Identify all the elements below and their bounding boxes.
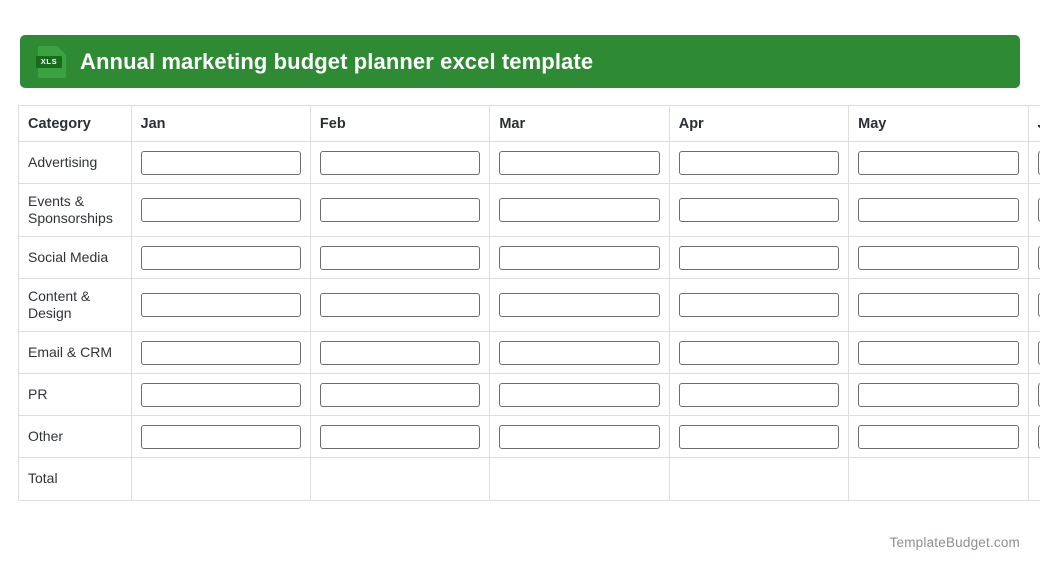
cell-events-may[interactable] xyxy=(849,184,1028,237)
cell-total-mar xyxy=(490,458,669,501)
input-pr-feb[interactable] xyxy=(320,383,480,407)
column-header-jan: Jan xyxy=(131,106,310,142)
cell-other-feb[interactable] xyxy=(310,416,489,458)
cell-email-mar[interactable] xyxy=(490,332,669,374)
cell-content-mar[interactable] xyxy=(490,279,669,332)
cell-advertising-apr[interactable] xyxy=(669,142,848,184)
cell-events-feb[interactable] xyxy=(310,184,489,237)
table-row: Advertising xyxy=(19,142,1040,184)
cell-pr-feb[interactable] xyxy=(310,374,489,416)
table-row: Social Media xyxy=(19,237,1040,279)
row-label-events-sponsorships: Events & Sponsorships xyxy=(19,184,132,237)
cell-other-apr[interactable] xyxy=(669,416,848,458)
table-row: PR xyxy=(19,374,1040,416)
row-label-email-crm: Email & CRM xyxy=(19,332,132,374)
input-pr-may[interactable] xyxy=(858,383,1018,407)
cell-content-jan[interactable] xyxy=(131,279,310,332)
cell-email-jun[interactable] xyxy=(1028,332,1040,374)
cell-pr-mar[interactable] xyxy=(490,374,669,416)
column-header-feb: Feb xyxy=(310,106,489,142)
table-row: Events & Sponsorships xyxy=(19,184,1040,237)
cell-content-feb[interactable] xyxy=(310,279,489,332)
input-email-may[interactable] xyxy=(858,341,1018,365)
cell-events-jun[interactable] xyxy=(1028,184,1040,237)
row-label-content-design: Content & Design xyxy=(19,279,132,332)
cell-content-apr[interactable] xyxy=(669,279,848,332)
cell-events-jan[interactable] xyxy=(131,184,310,237)
cell-total-feb xyxy=(310,458,489,501)
input-events-feb[interactable] xyxy=(320,198,480,222)
input-pr-mar[interactable] xyxy=(499,383,659,407)
cell-pr-may[interactable] xyxy=(849,374,1028,416)
cell-other-jun[interactable] xyxy=(1028,416,1040,458)
cell-email-may[interactable] xyxy=(849,332,1028,374)
input-social-may[interactable] xyxy=(858,246,1018,270)
footer-watermark: TemplateBudget.com xyxy=(890,535,1020,550)
input-events-jan[interactable] xyxy=(141,198,301,222)
cell-social-jan[interactable] xyxy=(131,237,310,279)
input-email-apr[interactable] xyxy=(679,341,839,365)
input-other-mar[interactable] xyxy=(499,425,659,449)
input-events-may[interactable] xyxy=(858,198,1018,222)
input-content-apr[interactable] xyxy=(679,293,839,317)
input-email-mar[interactable] xyxy=(499,341,659,365)
input-social-feb[interactable] xyxy=(320,246,480,270)
input-advertising-jan[interactable] xyxy=(141,151,301,175)
page-title: Annual marketing budget planner excel te… xyxy=(80,49,593,75)
table-header-row: Category Jan Feb Mar Apr May Jun xyxy=(19,106,1040,142)
cell-advertising-feb[interactable] xyxy=(310,142,489,184)
cell-events-mar[interactable] xyxy=(490,184,669,237)
column-header-category: Category xyxy=(19,106,132,142)
cell-social-feb[interactable] xyxy=(310,237,489,279)
table-header: Category Jan Feb Mar Apr May Jun xyxy=(19,106,1040,142)
input-content-may[interactable] xyxy=(858,293,1018,317)
budget-table-container: Category Jan Feb Mar Apr May Jun Adverti… xyxy=(18,105,1040,513)
cell-email-jan[interactable] xyxy=(131,332,310,374)
input-advertising-apr[interactable] xyxy=(679,151,839,175)
column-header-may: May xyxy=(849,106,1028,142)
cell-pr-jan[interactable] xyxy=(131,374,310,416)
input-email-jan[interactable] xyxy=(141,341,301,365)
cell-social-jun[interactable] xyxy=(1028,237,1040,279)
input-other-may[interactable] xyxy=(858,425,1018,449)
header-banner: XLS Annual marketing budget planner exce… xyxy=(20,35,1020,88)
cell-pr-jun[interactable] xyxy=(1028,374,1040,416)
cell-other-jan[interactable] xyxy=(131,416,310,458)
cell-content-jun[interactable] xyxy=(1028,279,1040,332)
budget-table: Category Jan Feb Mar Apr May Jun Adverti… xyxy=(18,105,1040,501)
cell-advertising-may[interactable] xyxy=(849,142,1028,184)
row-label-pr: PR xyxy=(19,374,132,416)
input-events-mar[interactable] xyxy=(499,198,659,222)
input-other-jan[interactable] xyxy=(141,425,301,449)
table-row-total: Total xyxy=(19,458,1040,501)
xls-file-icon: XLS xyxy=(38,46,66,78)
input-social-apr[interactable] xyxy=(679,246,839,270)
input-advertising-may[interactable] xyxy=(858,151,1018,175)
row-label-total: Total xyxy=(19,458,132,501)
cell-total-may xyxy=(849,458,1028,501)
cell-total-jun xyxy=(1028,458,1040,501)
input-advertising-feb[interactable] xyxy=(320,151,480,175)
column-header-mar: Mar xyxy=(490,106,669,142)
cell-events-apr[interactable] xyxy=(669,184,848,237)
cell-email-feb[interactable] xyxy=(310,332,489,374)
input-social-mar[interactable] xyxy=(499,246,659,270)
cell-pr-apr[interactable] xyxy=(669,374,848,416)
cell-email-apr[interactable] xyxy=(669,332,848,374)
input-other-feb[interactable] xyxy=(320,425,480,449)
input-pr-apr[interactable] xyxy=(679,383,839,407)
input-social-jan[interactable] xyxy=(141,246,301,270)
table-row: Email & CRM xyxy=(19,332,1040,374)
cell-social-may[interactable] xyxy=(849,237,1028,279)
column-header-jun: Jun xyxy=(1028,106,1040,142)
input-advertising-mar[interactable] xyxy=(499,151,659,175)
input-content-mar[interactable] xyxy=(499,293,659,317)
table-row: Other xyxy=(19,416,1040,458)
cell-social-mar[interactable] xyxy=(490,237,669,279)
row-label-other: Other xyxy=(19,416,132,458)
input-events-apr[interactable] xyxy=(679,198,839,222)
cell-total-jan xyxy=(131,458,310,501)
input-content-feb[interactable] xyxy=(320,293,480,317)
cell-advertising-jun[interactable] xyxy=(1028,142,1040,184)
input-content-jan[interactable] xyxy=(141,293,301,317)
cell-social-apr[interactable] xyxy=(669,237,848,279)
column-header-apr: Apr xyxy=(669,106,848,142)
row-label-social-media: Social Media xyxy=(19,237,132,279)
input-other-apr[interactable] xyxy=(679,425,839,449)
input-pr-jan[interactable] xyxy=(141,383,301,407)
xls-icon-label: XLS xyxy=(36,56,62,68)
table-body: Advertising Events & Sponsorships xyxy=(19,142,1040,501)
cell-other-mar[interactable] xyxy=(490,416,669,458)
cell-other-may[interactable] xyxy=(849,416,1028,458)
cell-advertising-jan[interactable] xyxy=(131,142,310,184)
row-label-advertising: Advertising xyxy=(19,142,132,184)
cell-advertising-mar[interactable] xyxy=(490,142,669,184)
input-email-feb[interactable] xyxy=(320,341,480,365)
table-row: Content & Design xyxy=(19,279,1040,332)
cell-content-may[interactable] xyxy=(849,279,1028,332)
page-root: XLS Annual marketing budget planner exce… xyxy=(0,0,1040,573)
cell-total-apr xyxy=(669,458,848,501)
xls-icon-fold xyxy=(57,46,66,55)
